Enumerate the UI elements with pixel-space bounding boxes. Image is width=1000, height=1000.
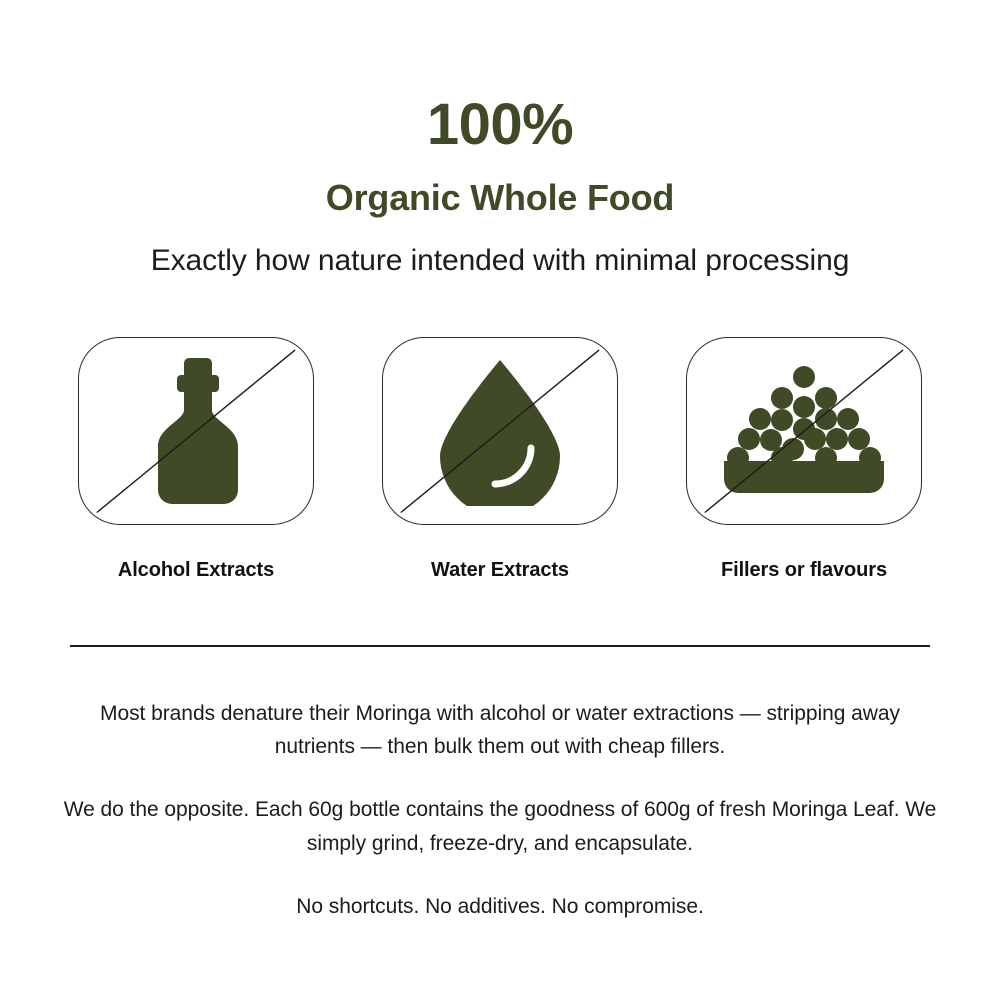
body-paragraph-2: We do the opposite. Each 60g bottle cont… (60, 793, 940, 859)
body-copy: Most brands denature their Moringa with … (60, 697, 940, 923)
exclusion-label-water: Water Extracts (431, 559, 569, 581)
section-divider (70, 645, 930, 647)
exclusion-item-water: Water Extracts (382, 337, 618, 581)
body-paragraph-1: Most brands denature their Moringa with … (60, 697, 940, 763)
exclusion-item-alcohol: Alcohol Extracts (78, 337, 314, 581)
icon-frame-water (382, 337, 618, 525)
exclusion-label-fillers: Fillers or flavours (721, 559, 887, 581)
headline-block: 100% Organic Whole Food Exactly how natu… (0, 96, 1000, 276)
body-paragraph-3: No shortcuts. No additives. No compromis… (60, 890, 940, 923)
exclusion-label-alcohol: Alcohol Extracts (118, 559, 274, 581)
exclusion-icon-row: Alcohol Extracts Water Extracts (78, 337, 922, 581)
marketing-panel: 100% Organic Whole Food Exactly how natu… (0, 0, 1000, 1000)
icon-frame-alcohol (78, 337, 314, 525)
bottle-icon (141, 356, 251, 506)
page-subtitle: Organic Whole Food (0, 180, 1000, 216)
granule-pile-icon (722, 365, 886, 497)
tagline: Exactly how nature intended with minimal… (0, 246, 1000, 276)
water-drop-icon (434, 356, 566, 506)
exclusion-item-fillers: Fillers or flavours (686, 337, 922, 581)
icon-frame-fillers (686, 337, 922, 525)
page-title: 100% (0, 96, 1000, 154)
